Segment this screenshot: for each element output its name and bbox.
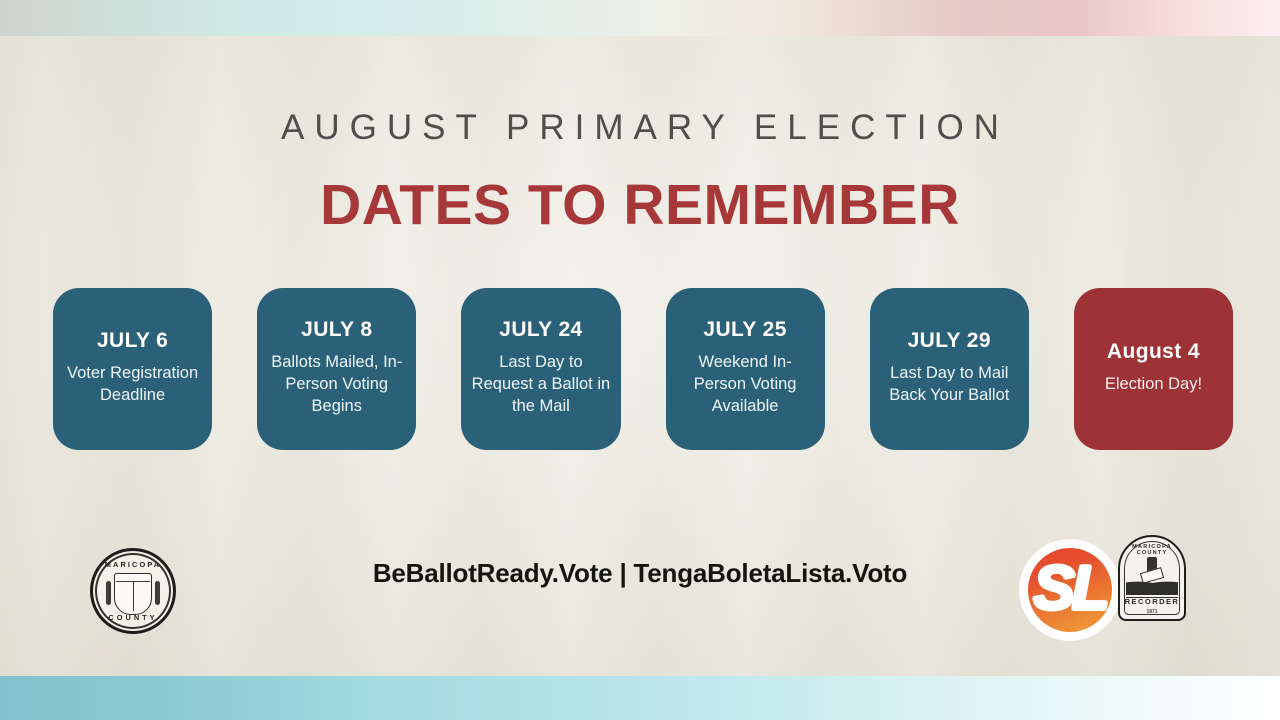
date-card: JULY 6 Voter Registration Deadline — [53, 288, 212, 450]
date-card-date: JULY 6 — [97, 329, 168, 352]
date-card-description: Weekend In-Person Voting Available — [674, 352, 817, 418]
sl-monogram-letters: SL — [1022, 542, 1118, 638]
election-day-card-date: August 4 — [1107, 340, 1200, 363]
page-title: DATES TO REMEMBER — [0, 172, 1280, 238]
date-card-description: Voter Registration Deadline — [61, 363, 204, 407]
county-seal-bottom-text: COUNTY — [93, 613, 173, 622]
date-card: JULY 24 Last Day to Request a Ballot in … — [461, 288, 620, 450]
sl-monogram-icon: SL — [1022, 542, 1118, 638]
recorder-seal-year-text: 1871 — [1120, 609, 1184, 615]
bottom-gradient-bar — [0, 676, 1280, 720]
date-card-description: Last Day to Mail Back Your Ballot — [878, 363, 1021, 407]
date-card: JULY 8 Ballots Mailed, In-Person Voting … — [257, 288, 416, 450]
election-day-card-description: Election Day! — [1105, 374, 1202, 396]
date-card: JULY 25 Weekend In-Person Voting Availab… — [666, 288, 825, 450]
date-card-date: JULY 24 — [499, 318, 582, 341]
date-card-date: JULY 29 — [908, 329, 991, 352]
eyebrow-title: AUGUST PRIMARY ELECTION — [0, 108, 1280, 148]
date-card: JULY 29 Last Day to Mail Back Your Ballo… — [870, 288, 1029, 450]
recorder-seal-landscape-icon — [1126, 579, 1178, 595]
date-card-date: JULY 8 — [301, 318, 372, 341]
slide-canvas: AUGUST PRIMARY ELECTION DATES TO REMEMBE… — [0, 0, 1280, 720]
election-day-card: August 4 Election Day! — [1074, 288, 1233, 450]
date-card-date: JULY 25 — [703, 318, 786, 341]
footer: MARICOPA COUNTY BeBallotReady.Vote | Ten… — [0, 520, 1280, 660]
sl-monogram-label: SL — [1033, 553, 1106, 624]
top-gradient-bar — [0, 0, 1280, 36]
recorder-seal-top-text: MARICOPA COUNTY — [1120, 544, 1184, 556]
recorder-seal-bottom-text: RECORDER — [1120, 597, 1184, 606]
date-card-description: Ballots Mailed, In-Person Voting Begins — [265, 352, 408, 418]
date-card-description: Last Day to Request a Ballot in the Mail — [469, 352, 612, 418]
maricopa-county-recorder-seal-icon: MARICOPA COUNTY RECORDER 1871 — [1118, 535, 1186, 621]
dates-card-row: JULY 6 Voter Registration Deadline JULY … — [53, 288, 1233, 450]
